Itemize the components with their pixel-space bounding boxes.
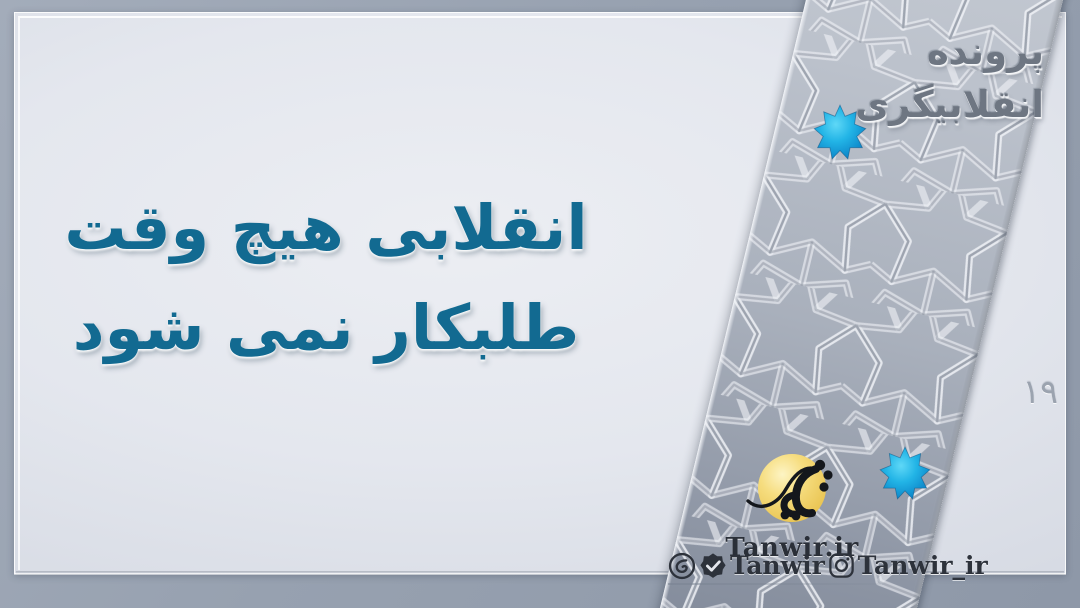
verified-badge-icon bbox=[699, 552, 727, 580]
eitaa-handle[interactable]: Tanwir bbox=[730, 551, 825, 580]
tanwir-logo-icon bbox=[742, 443, 842, 535]
section-header: پرونده انقلابیگری bbox=[855, 26, 1044, 131]
social-handles: Tanwir Tanwir_ir bbox=[668, 551, 988, 580]
header-line-2: انقلابیگری bbox=[855, 79, 1044, 132]
quote-text: انقلابی هیچ وقت طلبکار نمی شود bbox=[46, 178, 606, 379]
quote-line-2: طلبکار نمی شود bbox=[46, 278, 606, 378]
quote-card: پرونده انقلابیگری انقلابی هیچ وقت طلبکار… bbox=[0, 0, 1080, 608]
quote-line-1: انقلابی هیچ وقت bbox=[46, 178, 606, 278]
page-number: ۱۹ bbox=[1023, 372, 1058, 411]
instagram-icon[interactable] bbox=[828, 552, 855, 579]
footer-divider bbox=[668, 583, 883, 585]
header-line-1: پرونده bbox=[855, 26, 1044, 79]
eitaa-icon[interactable] bbox=[668, 552, 696, 580]
instagram-handle[interactable]: Tanwir_ir bbox=[858, 551, 988, 580]
brand-block: Tanwir.ir bbox=[672, 443, 912, 563]
